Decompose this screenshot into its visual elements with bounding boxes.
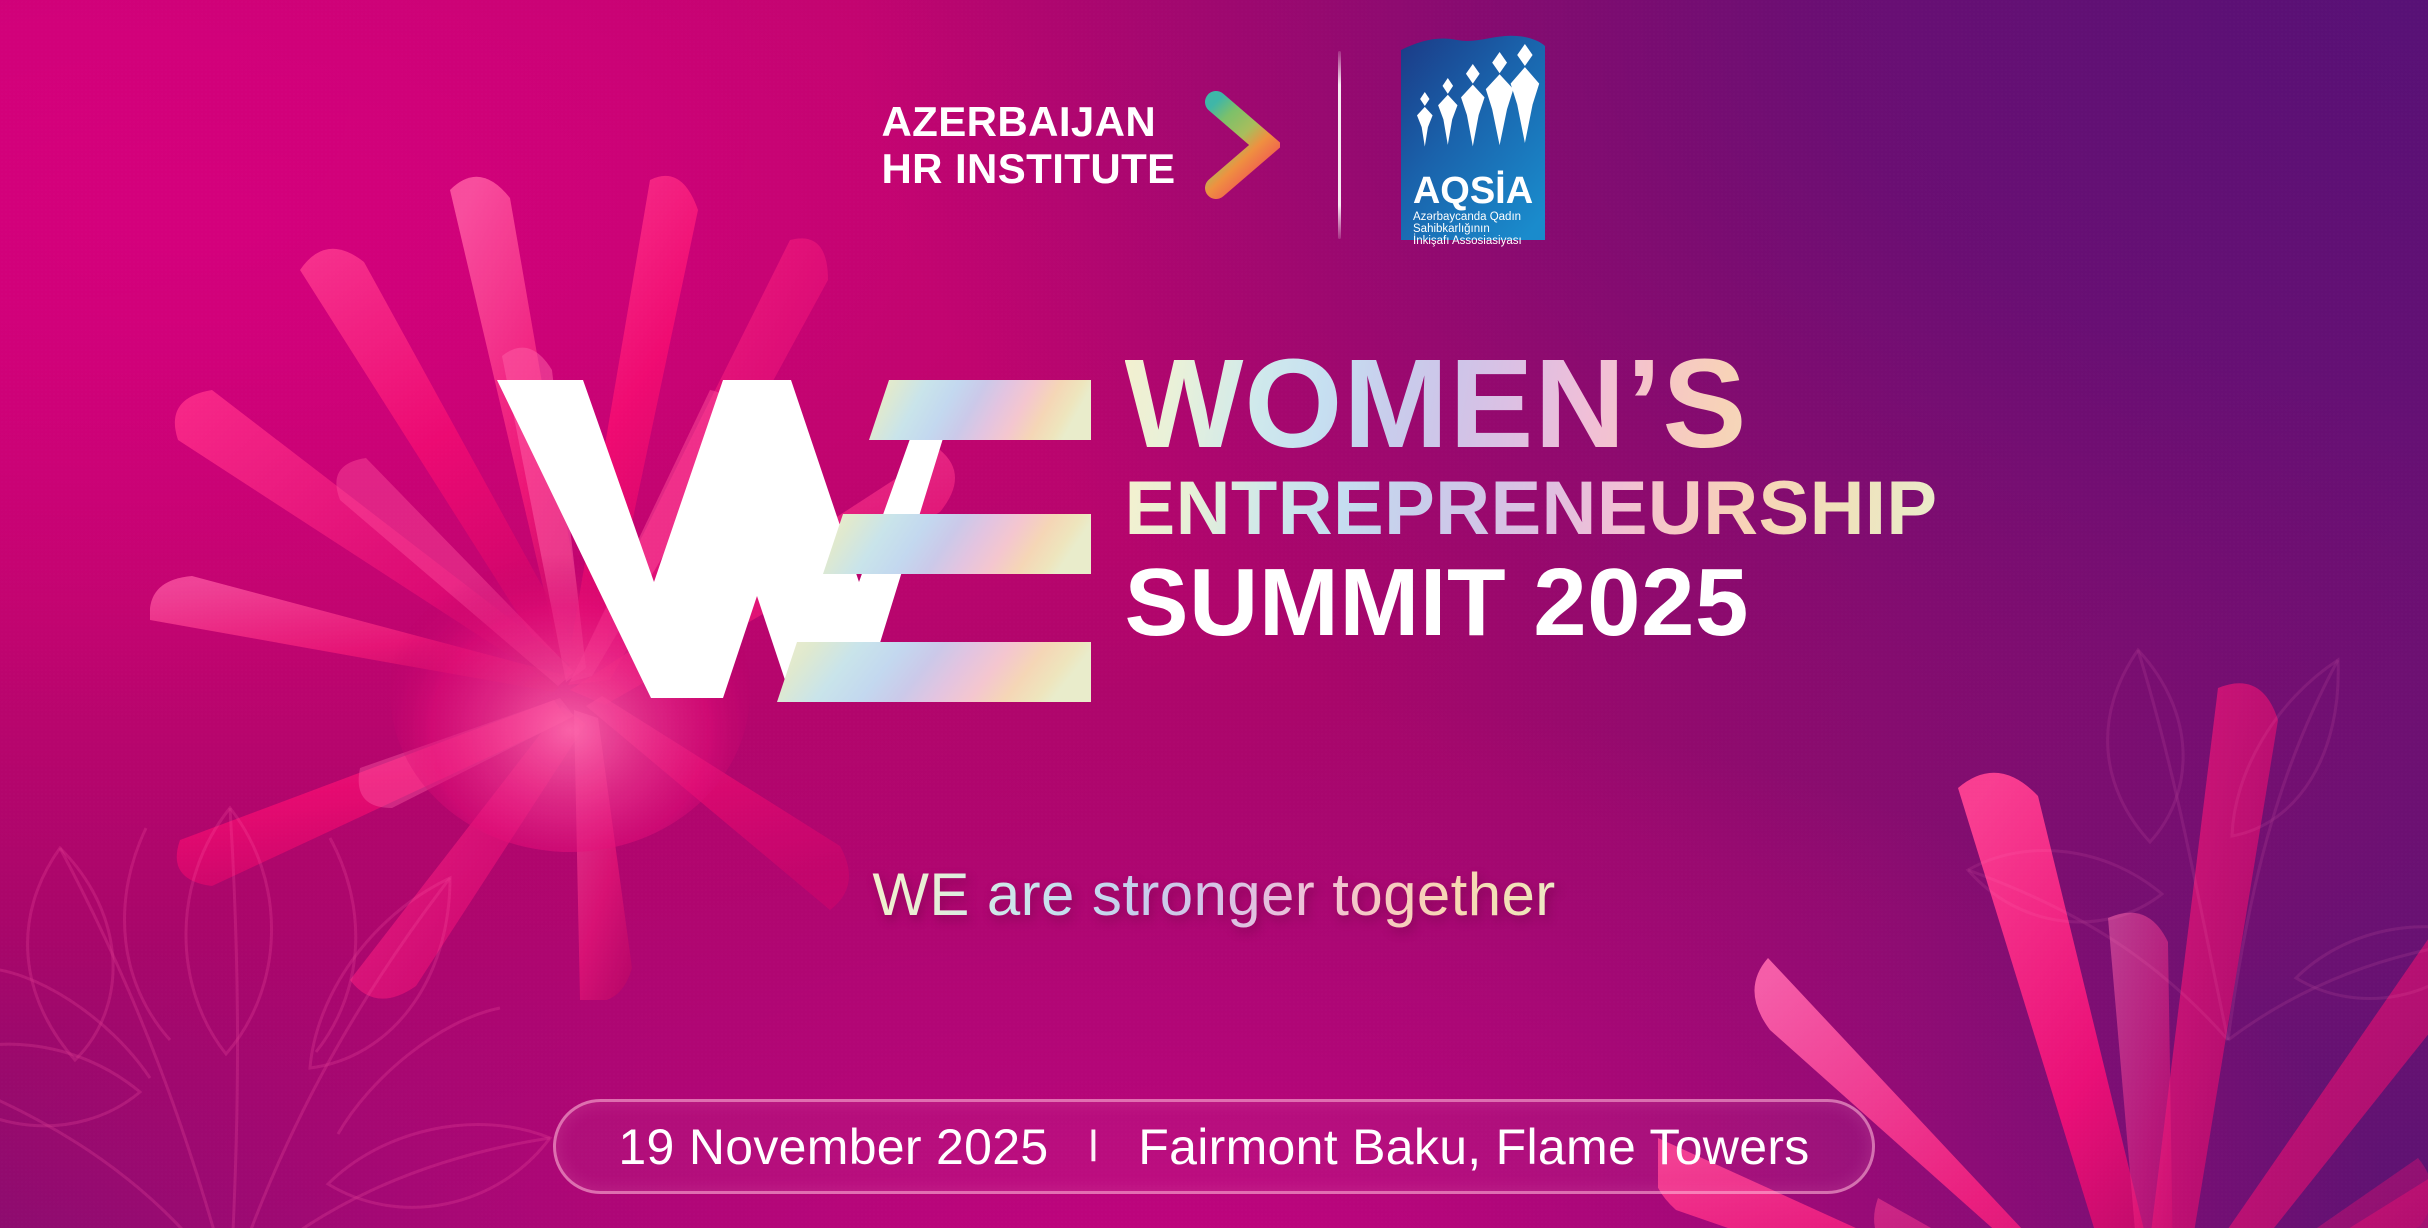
we-monogram-icon (491, 374, 1091, 704)
aqsia-sub-line-2: Sahibkarlığının (1413, 223, 1490, 235)
title-summit-2025: SUMMIT 2025 (1125, 555, 1938, 651)
aqsia-sub-line-3: İnkişafı Assosiasiyası (1413, 234, 1522, 247)
poster-canvas: AZERBAIJAN HR INSTITUTE (0, 0, 2428, 1228)
ahri-line-2: HR INSTITUTE (881, 145, 1175, 192)
chevron-right-gradient-icon (1202, 90, 1280, 200)
title-womens: WOMEN’S (1125, 344, 1938, 465)
aqsia-logo-icon: AQSİA Azərbaycanda Qadın Sahibkarlığının… (1399, 34, 1547, 256)
azerbaijan-hr-institute-label: AZERBAIJAN HR INSTITUTE (881, 98, 1175, 192)
tagline-text: WE are stronger together (872, 861, 1555, 928)
tagline: WE are stronger together (0, 860, 2428, 929)
partner-divider (1338, 51, 1341, 239)
azerbaijan-hr-institute-logo: AZERBAIJAN HR INSTITUTE (881, 90, 1279, 200)
we-bar-middle (823, 514, 1091, 574)
summit-title-block: WOMEN’S ENTREPRENEURSHIP SUMMIT 2025 (1125, 344, 1938, 651)
we-bar-bottom (777, 642, 1091, 702)
title-entrepreneurship: ENTREPRENEURSHIP (1125, 471, 1938, 547)
main-lockup: WOMEN’S ENTREPRENEURSHIP SUMMIT 2025 (0, 344, 2428, 704)
partner-logos-header: AZERBAIJAN HR INSTITUTE (0, 34, 2428, 256)
event-details-container: 19 November 2025 l Fairmont Baku, Flame … (0, 1099, 2428, 1194)
event-details-pill: 19 November 2025 l Fairmont Baku, Flame … (553, 1099, 1875, 1194)
event-venue: Fairmont Baku, Flame Towers (1138, 1118, 1809, 1176)
aqsia-sub-line-1: Azərbaycanda Qadın (1413, 211, 1521, 223)
we-bar-top (869, 380, 1091, 440)
event-separator: l (1089, 1122, 1099, 1172)
aqsia-acronym: AQSİA (1412, 170, 1532, 212)
event-date: 19 November 2025 (618, 1118, 1048, 1176)
ahri-line-1: AZERBAIJAN (881, 98, 1175, 145)
